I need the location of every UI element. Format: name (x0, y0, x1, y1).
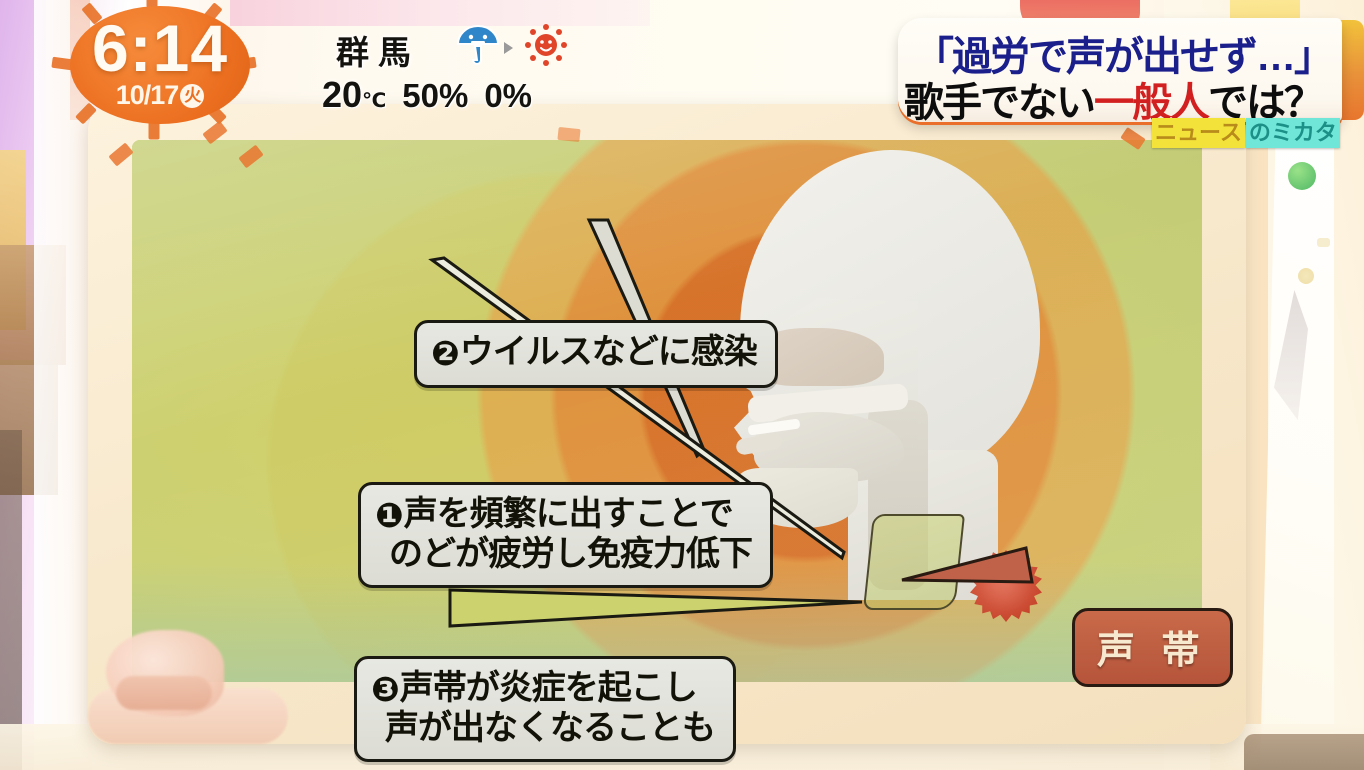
callout-1-line-1: ❶声を頻繁に出すことで (375, 495, 752, 535)
program-logo-part-2: のミカタ (1246, 118, 1340, 148)
broadcast-screen: ❷ウイルスなどに感染 ❶声を頻繁に出すことで のどが疲労し免疫力低下 ❸声帯が炎… (0, 0, 1364, 770)
pointer-line-cord-label (132, 140, 1202, 682)
umbrella-icon (454, 22, 502, 68)
program-logo: ニュースのミカタ (1152, 118, 1340, 148)
weather-widget: 群馬 20℃ (322, 18, 602, 122)
presentation-board: ❷ウイルスなどに感染 ❶声を頻繁に出すことで のどが疲労し免疫力低下 ❸声帯が炎… (88, 104, 1246, 744)
temperature-unit: ℃ (362, 90, 386, 112)
weather-precip-2: 0% (484, 77, 532, 115)
clock-date: 10/17火 (70, 80, 250, 111)
weather-region: 群馬 (336, 26, 420, 74)
decoration-dot-small (1317, 238, 1330, 247)
clock-time: 6:14 (70, 10, 250, 86)
studio-shadow-left (0, 430, 22, 770)
studio-desk-right (1244, 734, 1364, 770)
callout-3-text-line1: 声帯が炎症を起こし (400, 669, 697, 707)
weather-precip-1: 50% (402, 77, 468, 115)
sun-icon (522, 22, 570, 68)
weather-values: 20℃ 50% 0% (322, 74, 602, 116)
clock-face: 6:14 10/17火 (70, 6, 250, 124)
green-circle-decoration-icon (1288, 162, 1316, 190)
callout-2-line-1: ❷ウイルスなどに感染 (431, 333, 757, 373)
callout-1-text-line2: のどが疲労し免疫力低下 (375, 535, 752, 573)
callout-3-text-line2: 声が出なくなることも (371, 709, 715, 747)
clock-badge: 6:14 10/17火 (62, 6, 258, 128)
clock-date-value: 10/17 (116, 80, 179, 110)
callout-3-number: ❸ (371, 671, 400, 709)
callout-box-2[interactable]: ❷ウイルスなどに感染 (414, 320, 778, 388)
callout-1-text-line1: 声を頻繁に出すことで (404, 495, 733, 533)
headline-banner: 「過労で声が出せず…」 歌手でない一般人では？ (898, 18, 1342, 122)
weather-temperature: 20℃ (322, 74, 386, 116)
arrow-right-icon (504, 42, 513, 54)
presenter-fingers (116, 676, 212, 710)
callout-box-1[interactable]: ❶声を頻繁に出すことで のどが疲労し免疫力低下 (358, 482, 773, 588)
tape-piece (557, 127, 580, 142)
clock-weekday: 火 (180, 84, 204, 108)
decoration-dot-round (1298, 268, 1314, 284)
callout-2-number: ❷ (431, 335, 460, 373)
program-logo-part-1: ニュース (1152, 118, 1245, 148)
callout-1-number: ❶ (375, 497, 404, 535)
vocal-cord-label[interactable]: 声 帯 (1072, 608, 1233, 687)
board-surface (132, 140, 1202, 682)
callout-box-3[interactable]: ❸声帯が炎症を起こし 声が出なくなることも (354, 656, 736, 762)
headline-line-2-part-a: 歌手でない (904, 81, 1094, 125)
callout-3-line-1: ❸声帯が炎症を起こし (371, 669, 715, 709)
callout-2-text: ウイルスなどに感染 (460, 333, 757, 371)
temperature-value: 20 (322, 74, 362, 115)
